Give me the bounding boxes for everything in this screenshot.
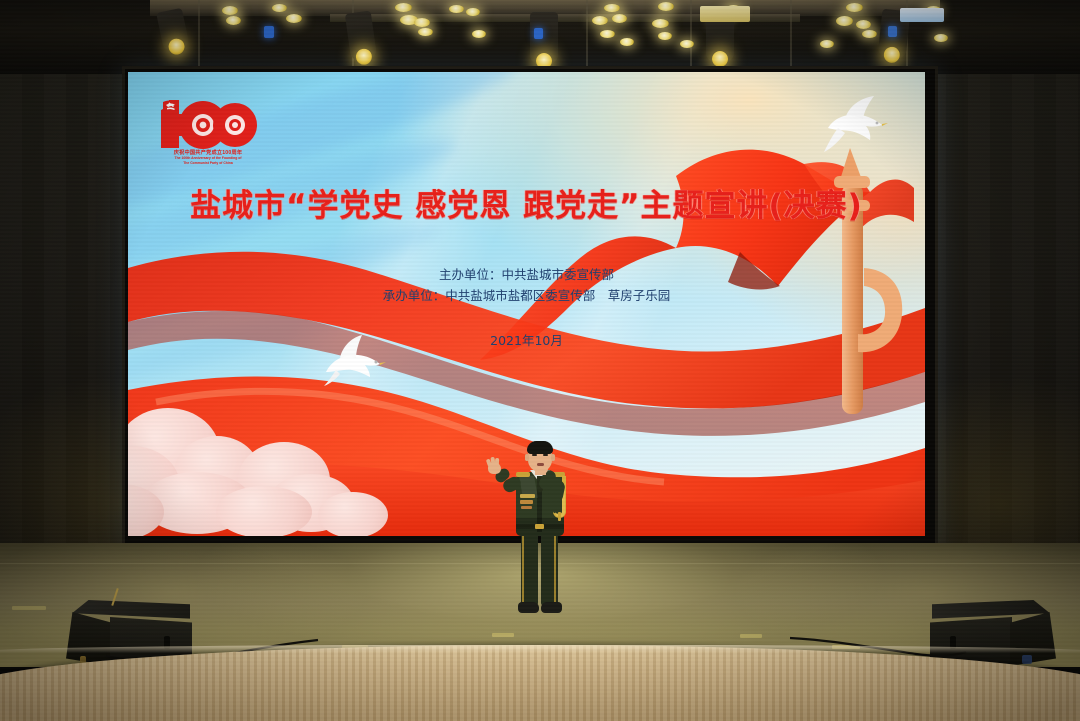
led-panel-light <box>700 6 750 22</box>
led-bar-light <box>888 26 897 37</box>
shoe <box>518 602 539 613</box>
led-bar-light <box>534 28 543 39</box>
stage-light <box>449 5 464 13</box>
screen-main-title: 盐城市“学党史 感党恩 跟党走”主题宣讲(决赛) <box>128 180 925 225</box>
stage-light <box>592 16 608 25</box>
medal-ribbons <box>520 500 533 504</box>
trouser-stripe <box>554 532 556 604</box>
stage-light <box>604 4 620 12</box>
stage-light <box>846 3 863 12</box>
stage-light <box>226 16 241 25</box>
stage-light <box>652 19 669 28</box>
stage-light <box>600 30 615 38</box>
stage-light <box>418 28 433 36</box>
pink-clouds-graphic <box>128 380 432 530</box>
emblem-caption-en-2: The Communist Party of China <box>159 161 257 165</box>
stage-light <box>286 14 302 23</box>
white-dove-right <box>816 94 890 156</box>
stage-light <box>472 30 486 38</box>
floor-tape-mark <box>492 633 514 637</box>
cpc-100th-anniversary-emblem: 庆祝中国共产党成立100周年 The 100th Anniversary of … <box>159 98 257 174</box>
stage-light <box>862 30 877 38</box>
ear <box>551 454 555 461</box>
organizer-line: 主办单位：中共盐城市委宣传部 <box>128 264 925 285</box>
ceiling-lighting-rig <box>0 0 1080 74</box>
speaker <box>497 432 583 618</box>
stage-light <box>856 20 871 29</box>
screen-date: 2021年10月 <box>128 330 925 349</box>
eye <box>543 454 548 456</box>
hair <box>527 441 553 454</box>
screen-subtitle-block: 主办单位：中共盐城市委宣传部 承办单位：中共盐城市盐都区委宣传部 草房子乐园 <box>128 264 925 306</box>
stage-light <box>395 3 412 12</box>
mouth <box>537 463 544 466</box>
stage-light <box>466 8 480 16</box>
aiguillette-tip <box>558 512 561 521</box>
floor-tape-mark <box>740 634 762 638</box>
stage-light <box>222 6 238 15</box>
floor-tape-mark <box>12 606 46 610</box>
stage-light <box>414 18 430 27</box>
shoulder-board <box>516 472 530 477</box>
neck <box>535 468 546 475</box>
stage-light <box>934 34 948 42</box>
medal-ribbons <box>520 494 535 498</box>
shoe <box>541 602 562 613</box>
emblem-caption: 庆祝中国共产党成立100周年 The 100th Anniversary of … <box>159 150 257 165</box>
stage-light <box>658 2 674 11</box>
stage-light <box>658 32 672 40</box>
ear <box>525 454 529 461</box>
stage-light <box>680 40 694 48</box>
medal-ribbons <box>521 506 532 509</box>
led-panel-light <box>900 8 944 22</box>
stage-light <box>612 14 627 23</box>
stage-light <box>820 40 834 48</box>
stage-light <box>272 4 287 12</box>
co-organizer-line: 承办单位：中共盐城市盐都区委宣传部 草房子乐园 <box>128 285 925 306</box>
trouser-stripe <box>522 532 524 604</box>
stage-light <box>620 38 634 46</box>
stage-apron-edge <box>0 645 1080 653</box>
stage-light <box>836 16 853 26</box>
led-bar-light <box>264 26 274 38</box>
stage-apron <box>0 645 1080 721</box>
eye <box>532 454 537 456</box>
stage-photo: 庆祝中国共产党成立100周年 The 100th Anniversary of … <box>0 0 1080 721</box>
